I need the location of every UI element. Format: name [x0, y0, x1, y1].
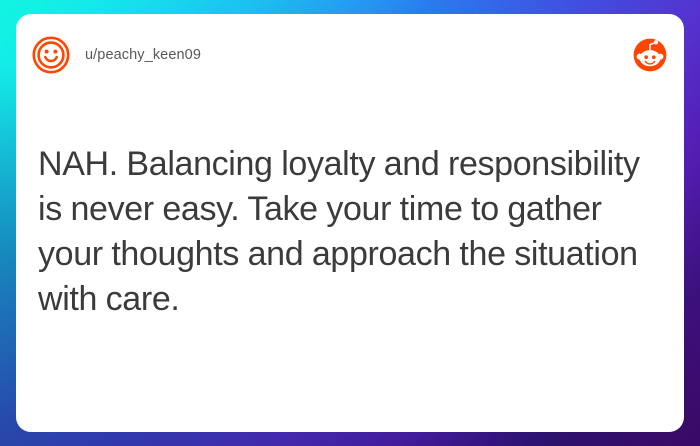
avatar[interactable]	[32, 36, 70, 74]
username-label: u/peachy_keen09	[85, 47, 201, 63]
reddit-comment-card: u/peachy_keen09	[16, 14, 684, 432]
reddit-snoo-icon[interactable]	[633, 38, 667, 72]
screenshot-canvas: u/peachy_keen09	[0, 0, 700, 446]
post-body-text: NAH. Balancing loyalty and responsibilit…	[38, 142, 650, 322]
card-header: u/peachy_keen09	[16, 14, 684, 94]
